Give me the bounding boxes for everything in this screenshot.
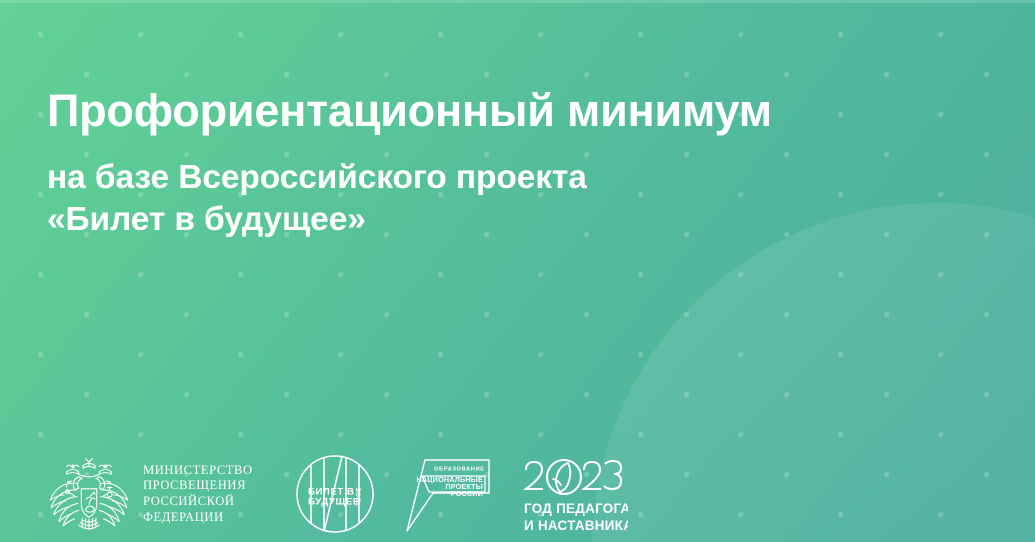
ministry-of-education-label: МИНИСТЕРСТВО ПРОСВЕЩЕНИЯ РОССИЙСКОЙ ФЕДЕ…	[143, 463, 253, 525]
logo-strip: МИНИСТЕРСТВО ПРОСВЕЩЕНИЯ РОССИЙСКОЙ ФЕДЕ…	[46, 452, 628, 536]
headline-block: Профориентационный минимум на базе Всеро…	[47, 84, 927, 241]
year-2023-icon: ГОД ПЕДАГОГА И НАСТАВНИКА	[520, 453, 628, 535]
page-subtitle-line-2: «Билет в будущее»	[47, 199, 927, 241]
page-subtitle: на базе Всероссийского проекта «Билет в …	[47, 157, 927, 241]
np-label-line-3: РОССИИ	[450, 489, 482, 498]
background-circle-decoration	[592, 203, 1035, 542]
national-projects-russia-logo: ОБРАЗОВАНИЕ НАЦИОНАЛЬНЫЕ ПРОЕКТЫ РОССИИ	[402, 452, 494, 536]
ministry-of-education-logo: МИНИСТЕРСТВО ПРОСВЕЩЕНИЯ РОССИЙСКОЙ ФЕДЕ…	[46, 451, 253, 537]
year-label-line-2: И НАСТАВНИКА	[524, 518, 628, 533]
bilet-label-line-2: БУДУЩЕЕ	[308, 497, 360, 508]
np-label-education: ОБРАЗОВАНИЕ	[434, 467, 485, 473]
page-subtitle-line-1: на базе Всероссийского проекта	[47, 157, 927, 199]
year-of-teacher-2023-logo: ГОД ПЕДАГОГА И НАСТАВНИКА	[520, 453, 628, 535]
ministry-label-line-3: РОССИЙСКОЙ	[143, 494, 253, 510]
year-label-line-1: ГОД ПЕДАГОГА	[524, 501, 628, 516]
page-title: Профориентационный минимум	[47, 84, 927, 137]
top-edge-highlight	[0, 0, 1035, 3]
ministry-label-line-1: МИНИСТЕРСТВО	[143, 463, 253, 479]
ministry-label-line-4: ФЕДЕРАЦИИ	[143, 510, 253, 526]
bilet-v-budushchee-logo: БИЛЕТ В БУДУЩЕЕ ТВОЕ	[295, 454, 375, 534]
ministry-label-line-2: ПРОСВЕЩЕНИЯ	[143, 478, 253, 494]
russian-double-headed-eagle-icon	[46, 451, 132, 537]
bilet-label-vertical: ТВОЕ	[355, 487, 362, 506]
presentation-slide: Профориентационный минимум на базе Всеро…	[0, 0, 1035, 542]
bilet-circle-icon: БИЛЕТ В БУДУЩЕЕ ТВОЕ	[295, 454, 375, 534]
national-projects-icon: ОБРАЗОВАНИЕ НАЦИОНАЛЬНЫЕ ПРОЕКТЫ РОССИИ	[402, 452, 494, 536]
